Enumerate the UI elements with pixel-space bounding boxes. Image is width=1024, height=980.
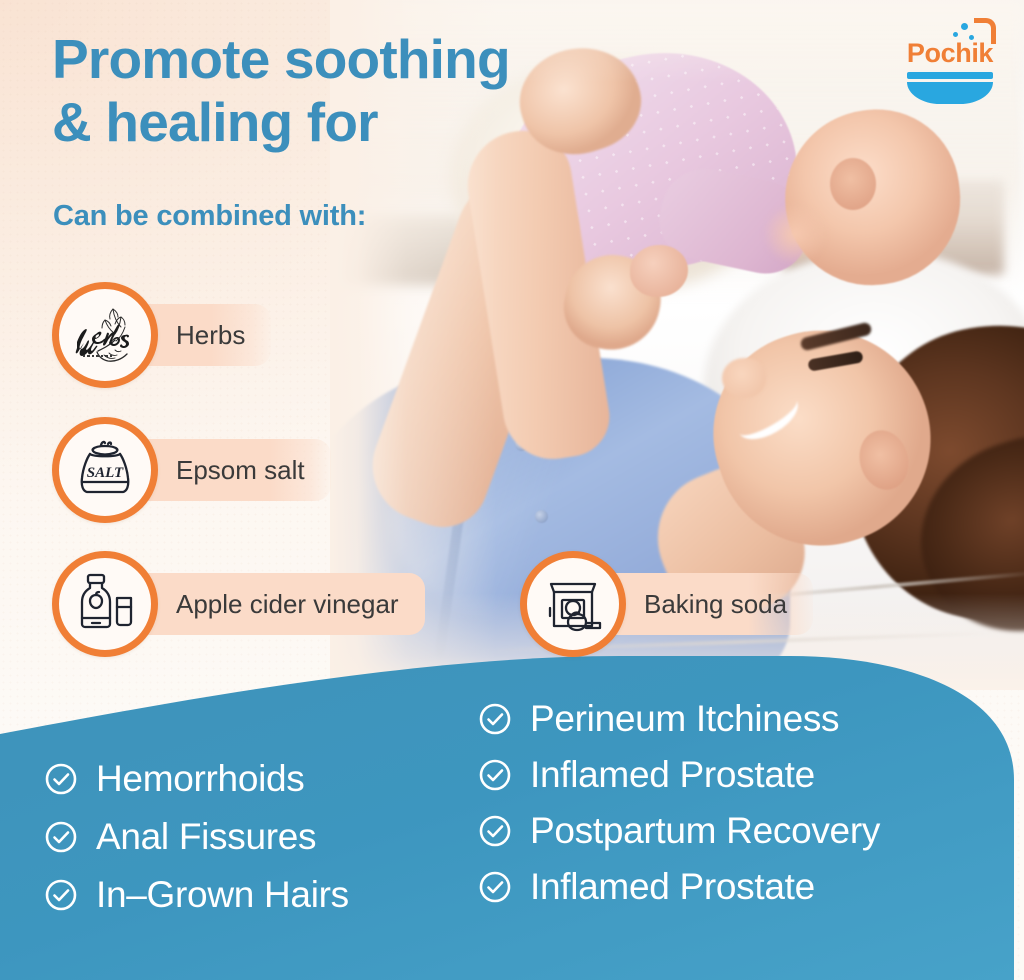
salt-sack-icon: SALT: [52, 417, 158, 523]
condition-item: Inflamed Prostate: [478, 866, 880, 908]
condition-item: Hemorrhoids: [44, 758, 349, 800]
condition-label: Hemorrhoids: [96, 758, 305, 800]
combine-item-label: Epsom salt: [176, 455, 305, 486]
herbs-script-logo-icon: [52, 282, 158, 388]
basin-rim-icon: [907, 72, 993, 79]
check-circle-icon: [44, 878, 78, 912]
check-circle-icon: [478, 758, 512, 792]
condition-item: Inflamed Prostate: [478, 754, 880, 796]
promo-poster: Promote soothing & healing for Can be co…: [0, 0, 1024, 980]
page-title: Promote soothing & healing for: [52, 28, 510, 155]
condition-label: Perineum Itchiness: [530, 698, 839, 740]
condition-label: Postpartum Recovery: [530, 810, 880, 852]
subheading: Can be combined with:: [53, 200, 366, 233]
conditions-panel: Hemorrhoids Anal Fissures In–Grown Hairs: [0, 630, 1014, 980]
brand-name: Pochik: [894, 38, 1006, 69]
water-drop-icon: [953, 32, 958, 37]
baby-ear: [830, 158, 876, 210]
condition-item: In–Grown Hairs: [44, 874, 349, 916]
condition-label: Inflamed Prostate: [530, 866, 815, 908]
baby-cheek: [760, 205, 830, 263]
condition-label: In–Grown Hairs: [96, 874, 349, 916]
check-circle-icon: [478, 702, 512, 736]
condition-item: Perineum Itchiness: [478, 698, 880, 740]
check-circle-icon: [478, 814, 512, 848]
water-drop-icon: [961, 23, 968, 30]
condition-label: Anal Fissures: [96, 816, 316, 858]
conditions-left-column: Hemorrhoids Anal Fissures In–Grown Hairs: [44, 758, 349, 932]
condition-label: Inflamed Prostate: [530, 754, 815, 796]
combine-item-label: Baking soda: [644, 589, 787, 620]
combine-item-label: Herbs: [176, 320, 245, 351]
svg-text:SALT: SALT: [87, 465, 124, 481]
combine-item-label-pill: Apple cider vinegar: [114, 573, 425, 635]
check-circle-icon: [44, 820, 78, 854]
condition-item: Postpartum Recovery: [478, 810, 880, 852]
combine-item-label: Apple cider vinegar: [176, 589, 399, 620]
check-circle-icon: [478, 870, 512, 904]
vinegar-bottle-glass-icon: [52, 551, 158, 657]
baking-soda-box-spoon-icon: [520, 551, 626, 657]
basin-bowl-icon: [907, 82, 993, 104]
conditions-right-column: Perineum Itchiness Inflamed Prostate Pos…: [478, 698, 880, 922]
mother-nose: [722, 358, 766, 398]
shirt-button: [535, 510, 548, 523]
check-circle-icon: [44, 762, 78, 796]
condition-item: Anal Fissures: [44, 816, 349, 858]
brand-logo[interactable]: Pochik: [894, 16, 1006, 104]
